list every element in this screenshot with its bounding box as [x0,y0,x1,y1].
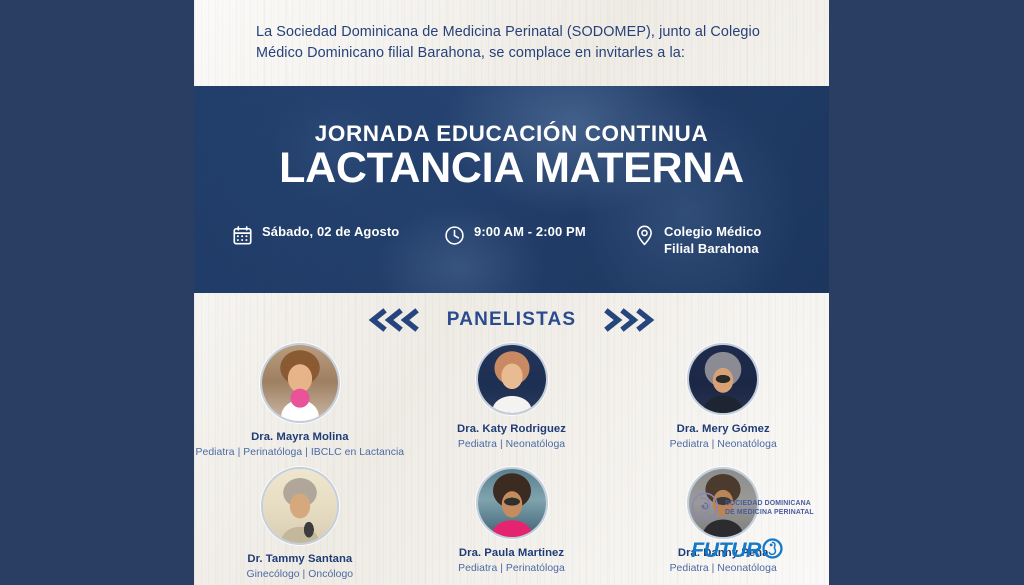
panelist-card: Dr. Tammy Santana Ginecólogo | Oncólogo [194,459,406,581]
panelist-role: Ginecólogo | Oncólogo [247,568,354,582]
panelist-name: Dra. Katy Rodriguez [457,422,566,437]
panelist-role: Pediatra | Perinatóloga | IBCLC en Lacta… [196,446,405,460]
panelists-row-1: Dra. Mayra Molina Pediatra | Perinatólog… [194,341,829,459]
avatar-mayra-molina [260,343,340,423]
triple-chevron-right-icon [598,308,660,332]
sodomep-line-2: DE MEDICINA PERINATAL [725,509,814,516]
panelist-role: Pediatra | Neonatóloga [670,438,777,452]
intro-banner: La Sociedad Dominicana de Medicina Perin… [194,0,829,86]
location-pin-icon [634,225,655,251]
sodomep-emblem-icon [691,492,719,526]
avatar-paula-martinez [476,467,548,539]
sodomep-line-1: SOCIEDAD DOMINICANA [725,500,811,507]
panelist-role: Pediatra | Perinatóloga [458,562,565,576]
futuro-emblem-icon [762,538,783,564]
event-time: 9:00 AM - 2:00 PM [444,224,634,251]
panelists-heading-label: PANELISTAS [447,309,577,331]
futuro-logo: FUTUR [691,538,826,564]
event-meta-row: Sábado, 02 de Agosto 9:00 AM - 2:00 PM [194,224,829,257]
avatar-mery-gomez [687,343,759,415]
panelist-role: Pediatra | Neonatóloga [458,438,565,452]
panelists-heading: PANELISTAS [194,299,829,341]
clock-icon [444,225,465,251]
panelist-name: Dra. Mery Gómez [677,422,770,437]
event-time-text: 9:00 AM - 2:00 PM [474,224,586,241]
panelist-name: Dra. Mayra Molina [251,430,349,445]
event-location: Colegio Médico Filial Barahona [634,224,795,257]
intro-text: La Sociedad Dominicana de Medicina Perin… [194,22,829,65]
hero-band: JORNADA EDUCACIÓN CONTINUA LACTANCIA MAT… [194,86,829,293]
panelist-card: Dra. Mayra Molina Pediatra | Perinatólog… [194,341,406,459]
event-date-text: Sábado, 02 de Agosto [262,224,399,241]
hero-title: LACTANCIA MATERNA [194,144,829,193]
panelist-name: Dra. Paula Martinez [459,546,564,561]
event-date: Sábado, 02 de Agosto [232,224,444,251]
screenshot-stage: La Sociedad Dominicana de Medicina Perin… [0,0,1024,585]
avatar-katy-rodriguez [476,343,548,415]
sodomep-logo-text: SOCIEDAD DOMINICANA DE MEDICINA PERINATA… [725,500,814,518]
triple-chevron-left-icon [363,308,425,332]
panelist-name: Dr. Tammy Santana [247,552,352,567]
avatar-tammy-santana [261,467,339,545]
sodomep-logo: SOCIEDAD DOMINICANA DE MEDICINA PERINATA… [691,492,826,526]
logo-group: SOCIEDAD DOMINICANA DE MEDICINA PERINATA… [691,492,826,564]
panelist-card: Dra. Mery Gómez Pediatra | Neonatóloga [617,341,829,459]
futuro-logo-text: FUTUR [691,540,761,562]
calendar-icon [232,225,253,251]
panelist-card: Dra. Paula Martinez Pediatra | Perinatól… [406,459,618,581]
panelist-card: Dra. Katy Rodriguez Pediatra | Neonatólo… [406,341,618,459]
event-poster: La Sociedad Dominicana de Medicina Perin… [194,0,829,585]
event-location-text: Colegio Médico Filial Barahona [664,224,795,257]
